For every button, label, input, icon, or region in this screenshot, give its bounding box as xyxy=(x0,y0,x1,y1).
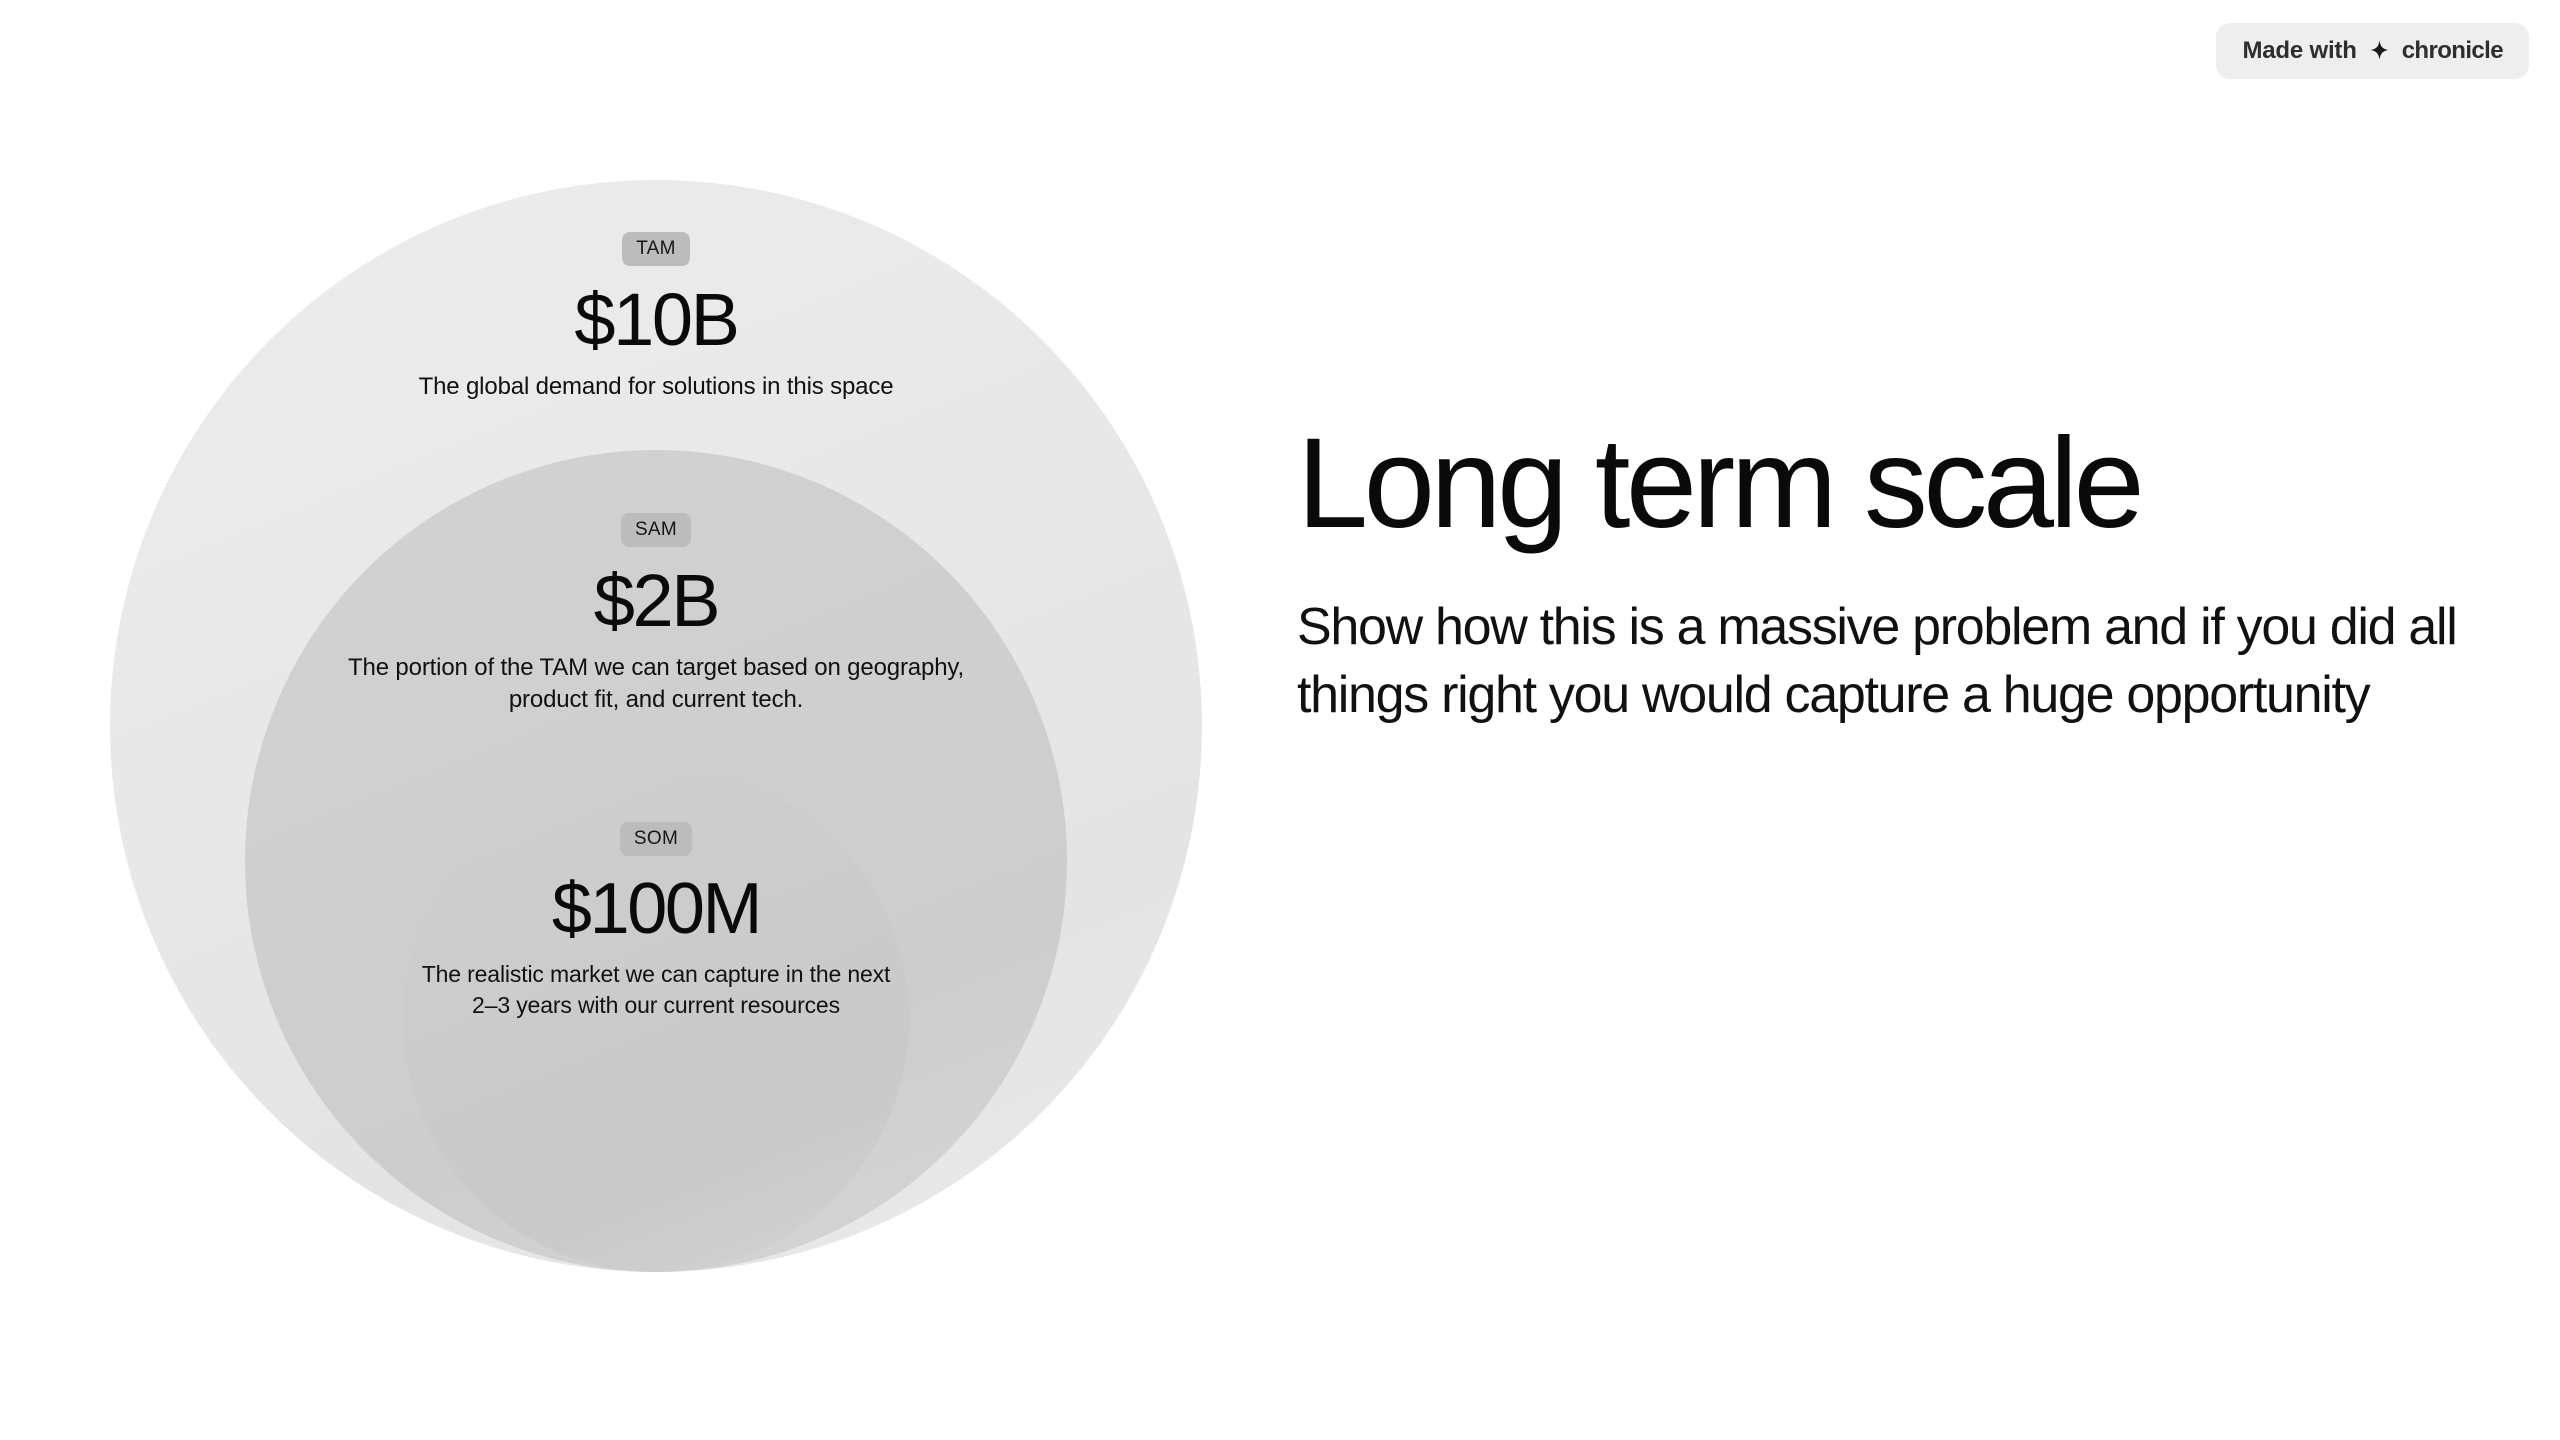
som-value: $100M xyxy=(421,872,891,947)
sam-description: The portion of the TAM we can target bas… xyxy=(326,652,986,717)
som-description: The realistic market we can capture in t… xyxy=(421,959,891,1022)
slide-body-text: Show how this is a massive problem and i… xyxy=(1297,594,2457,729)
sam-value: $2B xyxy=(326,563,986,640)
tam-value: $10B xyxy=(276,282,1036,359)
made-with-chronicle-badge[interactable]: Made with chronicle xyxy=(2216,23,2529,79)
tam-label-pill: TAM xyxy=(622,232,690,266)
made-with-label: Made with xyxy=(2242,37,2356,65)
sam-content: SAM $2B The portion of the TAM we can ta… xyxy=(326,513,986,717)
chronicle-wordmark: chronicle xyxy=(2402,37,2503,65)
tam-description: The global demand for solutions in this … xyxy=(276,371,1036,403)
market-size-diagram: TAM $10B The global demand for solutions… xyxy=(110,180,1202,1272)
sparkle-icon xyxy=(2367,39,2392,64)
som-content: SOM $100M The realistic market we can ca… xyxy=(421,822,891,1022)
som-label-pill: SOM xyxy=(620,822,692,856)
sam-label-pill: SAM xyxy=(621,513,691,547)
tam-content: TAM $10B The global demand for solutions… xyxy=(276,232,1036,403)
slide-canvas: Made with chronicle TAM $10B The global … xyxy=(0,0,2560,1440)
slide-title: Long term scale xyxy=(1297,420,2477,548)
copy-column: Long term scale Show how this is a massi… xyxy=(1297,420,2477,729)
